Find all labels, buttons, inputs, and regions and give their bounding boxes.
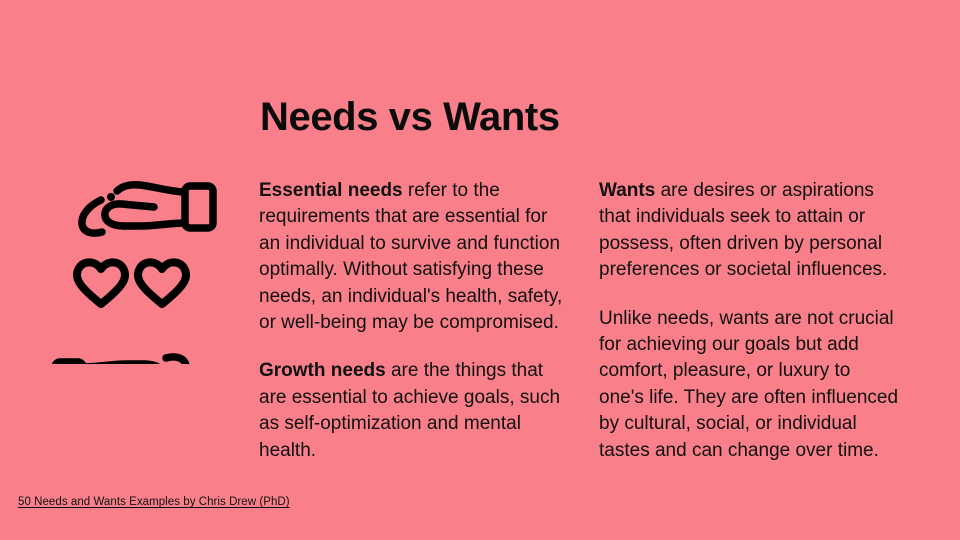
paragraph-lead-wants: Wants — [599, 180, 655, 201]
paragraph-body-essential-needs: refer to the requirements that are essen… — [259, 180, 562, 333]
bottom-hand-shape — [55, 357, 186, 364]
heart-right — [138, 262, 186, 304]
right-text-column: Wants are desires or aspirations that in… — [599, 178, 899, 464]
paragraph-wants: Wants are desires or aspirations that in… — [599, 178, 899, 284]
paragraph-growth-needs: Growth needs are the things that are ess… — [259, 358, 565, 464]
paragraph-essential-needs: Essential needs refer to the requirement… — [259, 178, 565, 336]
heart-left — [77, 262, 125, 304]
page-title: Needs vs Wants — [260, 95, 560, 140]
paragraph-lead-essential-needs: Essential needs — [259, 180, 403, 201]
source-credit-link[interactable]: 50 Needs and Wants Examples by Chris Dre… — [18, 496, 290, 508]
slide-canvas: Needs vs Wants — [0, 0, 960, 540]
hearts-group — [77, 262, 186, 304]
top-hand-shape — [82, 185, 213, 233]
paragraph-lead-growth-needs: Growth needs — [259, 360, 386, 381]
paragraph-body-wants-not-crucial: Unlike needs, wants are not crucial for … — [599, 308, 898, 461]
two-hands-holding-hearts-icon — [44, 178, 224, 364]
left-text-column: Essential needs refer to the requirement… — [259, 178, 565, 464]
paragraph-wants-not-crucial: Unlike needs, wants are not crucial for … — [599, 306, 899, 464]
